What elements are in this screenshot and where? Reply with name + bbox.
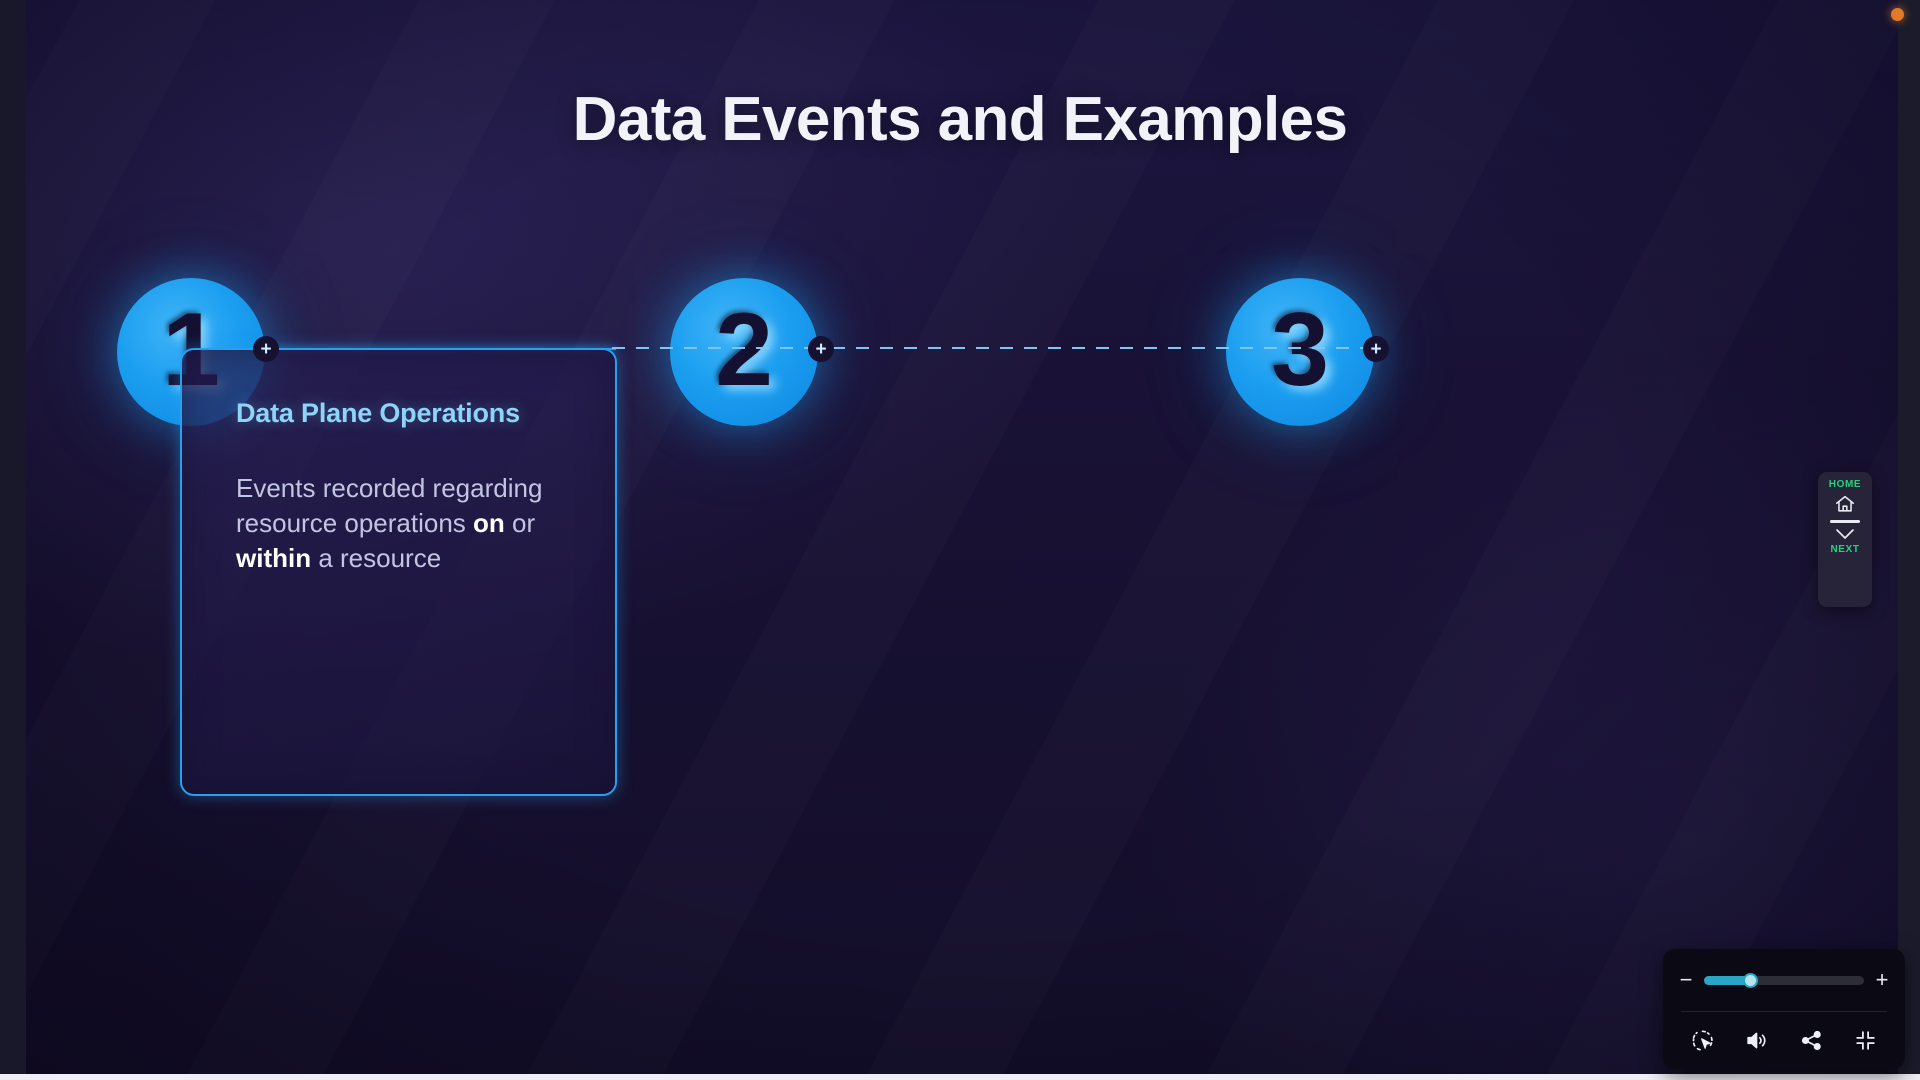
next-label: NEXT bbox=[1830, 544, 1859, 555]
card-heading: Data Plane Operations bbox=[236, 398, 577, 429]
zoom-out-button[interactable]: − bbox=[1677, 969, 1695, 991]
presentation-slide: Data Events and Examples 1 2 3 + + + Dat… bbox=[0, 0, 1920, 1080]
zoom-control-row: − + bbox=[1663, 949, 1905, 1011]
plus-node-icon-2[interactable]: + bbox=[808, 336, 834, 362]
record-indicator-dot bbox=[1891, 8, 1904, 21]
step-number-3: 3 bbox=[1271, 298, 1329, 402]
volume-icon[interactable] bbox=[1744, 1028, 1769, 1053]
house-icon[interactable] bbox=[1834, 493, 1856, 515]
info-card-step-1: Data Plane Operations Events recorded re… bbox=[180, 348, 617, 796]
card-body-text-3: a resource bbox=[311, 543, 441, 573]
card-body-bold-within: within bbox=[236, 543, 311, 573]
plus-node-icon-1[interactable]: + bbox=[253, 336, 279, 362]
step-number-2: 2 bbox=[715, 298, 773, 402]
card-body-text-2: or bbox=[505, 508, 535, 538]
toolbar-icon-row bbox=[1663, 1012, 1905, 1069]
plus-node-icon-3[interactable]: + bbox=[1363, 336, 1389, 362]
connector-line-dashed-2 bbox=[832, 347, 1368, 349]
side-navigation-widget[interactable]: HOME NEXT bbox=[1818, 472, 1872, 607]
connector-line-dashed-1 bbox=[612, 347, 812, 349]
zoom-slider-thumb[interactable] bbox=[1743, 973, 1758, 988]
card-body: Events recorded regarding resource opera… bbox=[236, 471, 577, 576]
card-body-bold-on: on bbox=[473, 508, 505, 538]
step-circle-3[interactable]: 3 bbox=[1226, 278, 1374, 426]
cursor-select-icon[interactable] bbox=[1690, 1028, 1715, 1053]
nav-divider bbox=[1830, 520, 1860, 523]
chevron-down-icon[interactable] bbox=[1833, 526, 1857, 542]
player-toolbar: − + bbox=[1663, 949, 1905, 1069]
share-icon[interactable] bbox=[1799, 1028, 1824, 1053]
exit-fullscreen-icon[interactable] bbox=[1853, 1028, 1878, 1053]
step-circle-2[interactable]: 2 bbox=[670, 278, 818, 426]
home-label: HOME bbox=[1829, 479, 1861, 490]
zoom-slider[interactable] bbox=[1704, 976, 1864, 985]
zoom-in-button[interactable]: + bbox=[1873, 969, 1891, 991]
timeline-diagram: 1 2 3 + + + Data Plane Operations Events… bbox=[0, 0, 1920, 1080]
